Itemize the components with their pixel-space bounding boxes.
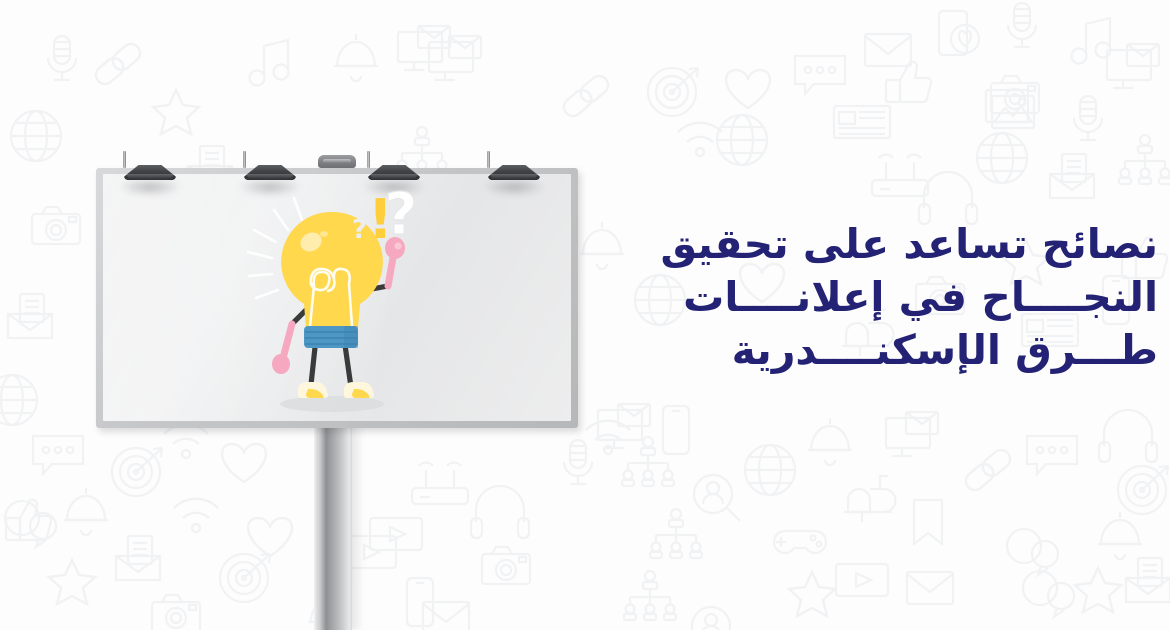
billboard-top-cap xyxy=(318,155,356,168)
headline-line-2: النجــــاح في إعلانــــات xyxy=(578,271,1158,324)
lamp-glow xyxy=(118,181,182,197)
lamp-glow xyxy=(482,181,546,197)
banner-canvas: ? ? ! نصائح تساعد على تحقيق النجــــاح ف… xyxy=(0,0,1170,630)
headline-line-1: نصائح تساعد على تحقيق xyxy=(578,218,1158,271)
lamp-post xyxy=(367,151,370,168)
left-hand xyxy=(272,354,290,374)
ground-shadow xyxy=(280,396,384,412)
shoes xyxy=(298,382,374,398)
headline-line-3: طـــرق الإسكنــــدرية xyxy=(578,324,1158,377)
headline-block: نصائح تساعد على تحقيق النجــــاح في إعلا… xyxy=(578,218,1158,377)
lamp-post xyxy=(487,151,490,168)
lightbulb-mascot: ? ? ! xyxy=(248,186,433,421)
question-mark-small: ? xyxy=(352,215,367,245)
billboard-support-pole xyxy=(314,424,352,630)
metal-band xyxy=(304,326,358,348)
lamp-post xyxy=(123,151,126,168)
exclamation-mark: ! xyxy=(368,188,393,251)
thought-marks: ? ? ! xyxy=(352,180,418,251)
lamp-post xyxy=(243,151,246,168)
